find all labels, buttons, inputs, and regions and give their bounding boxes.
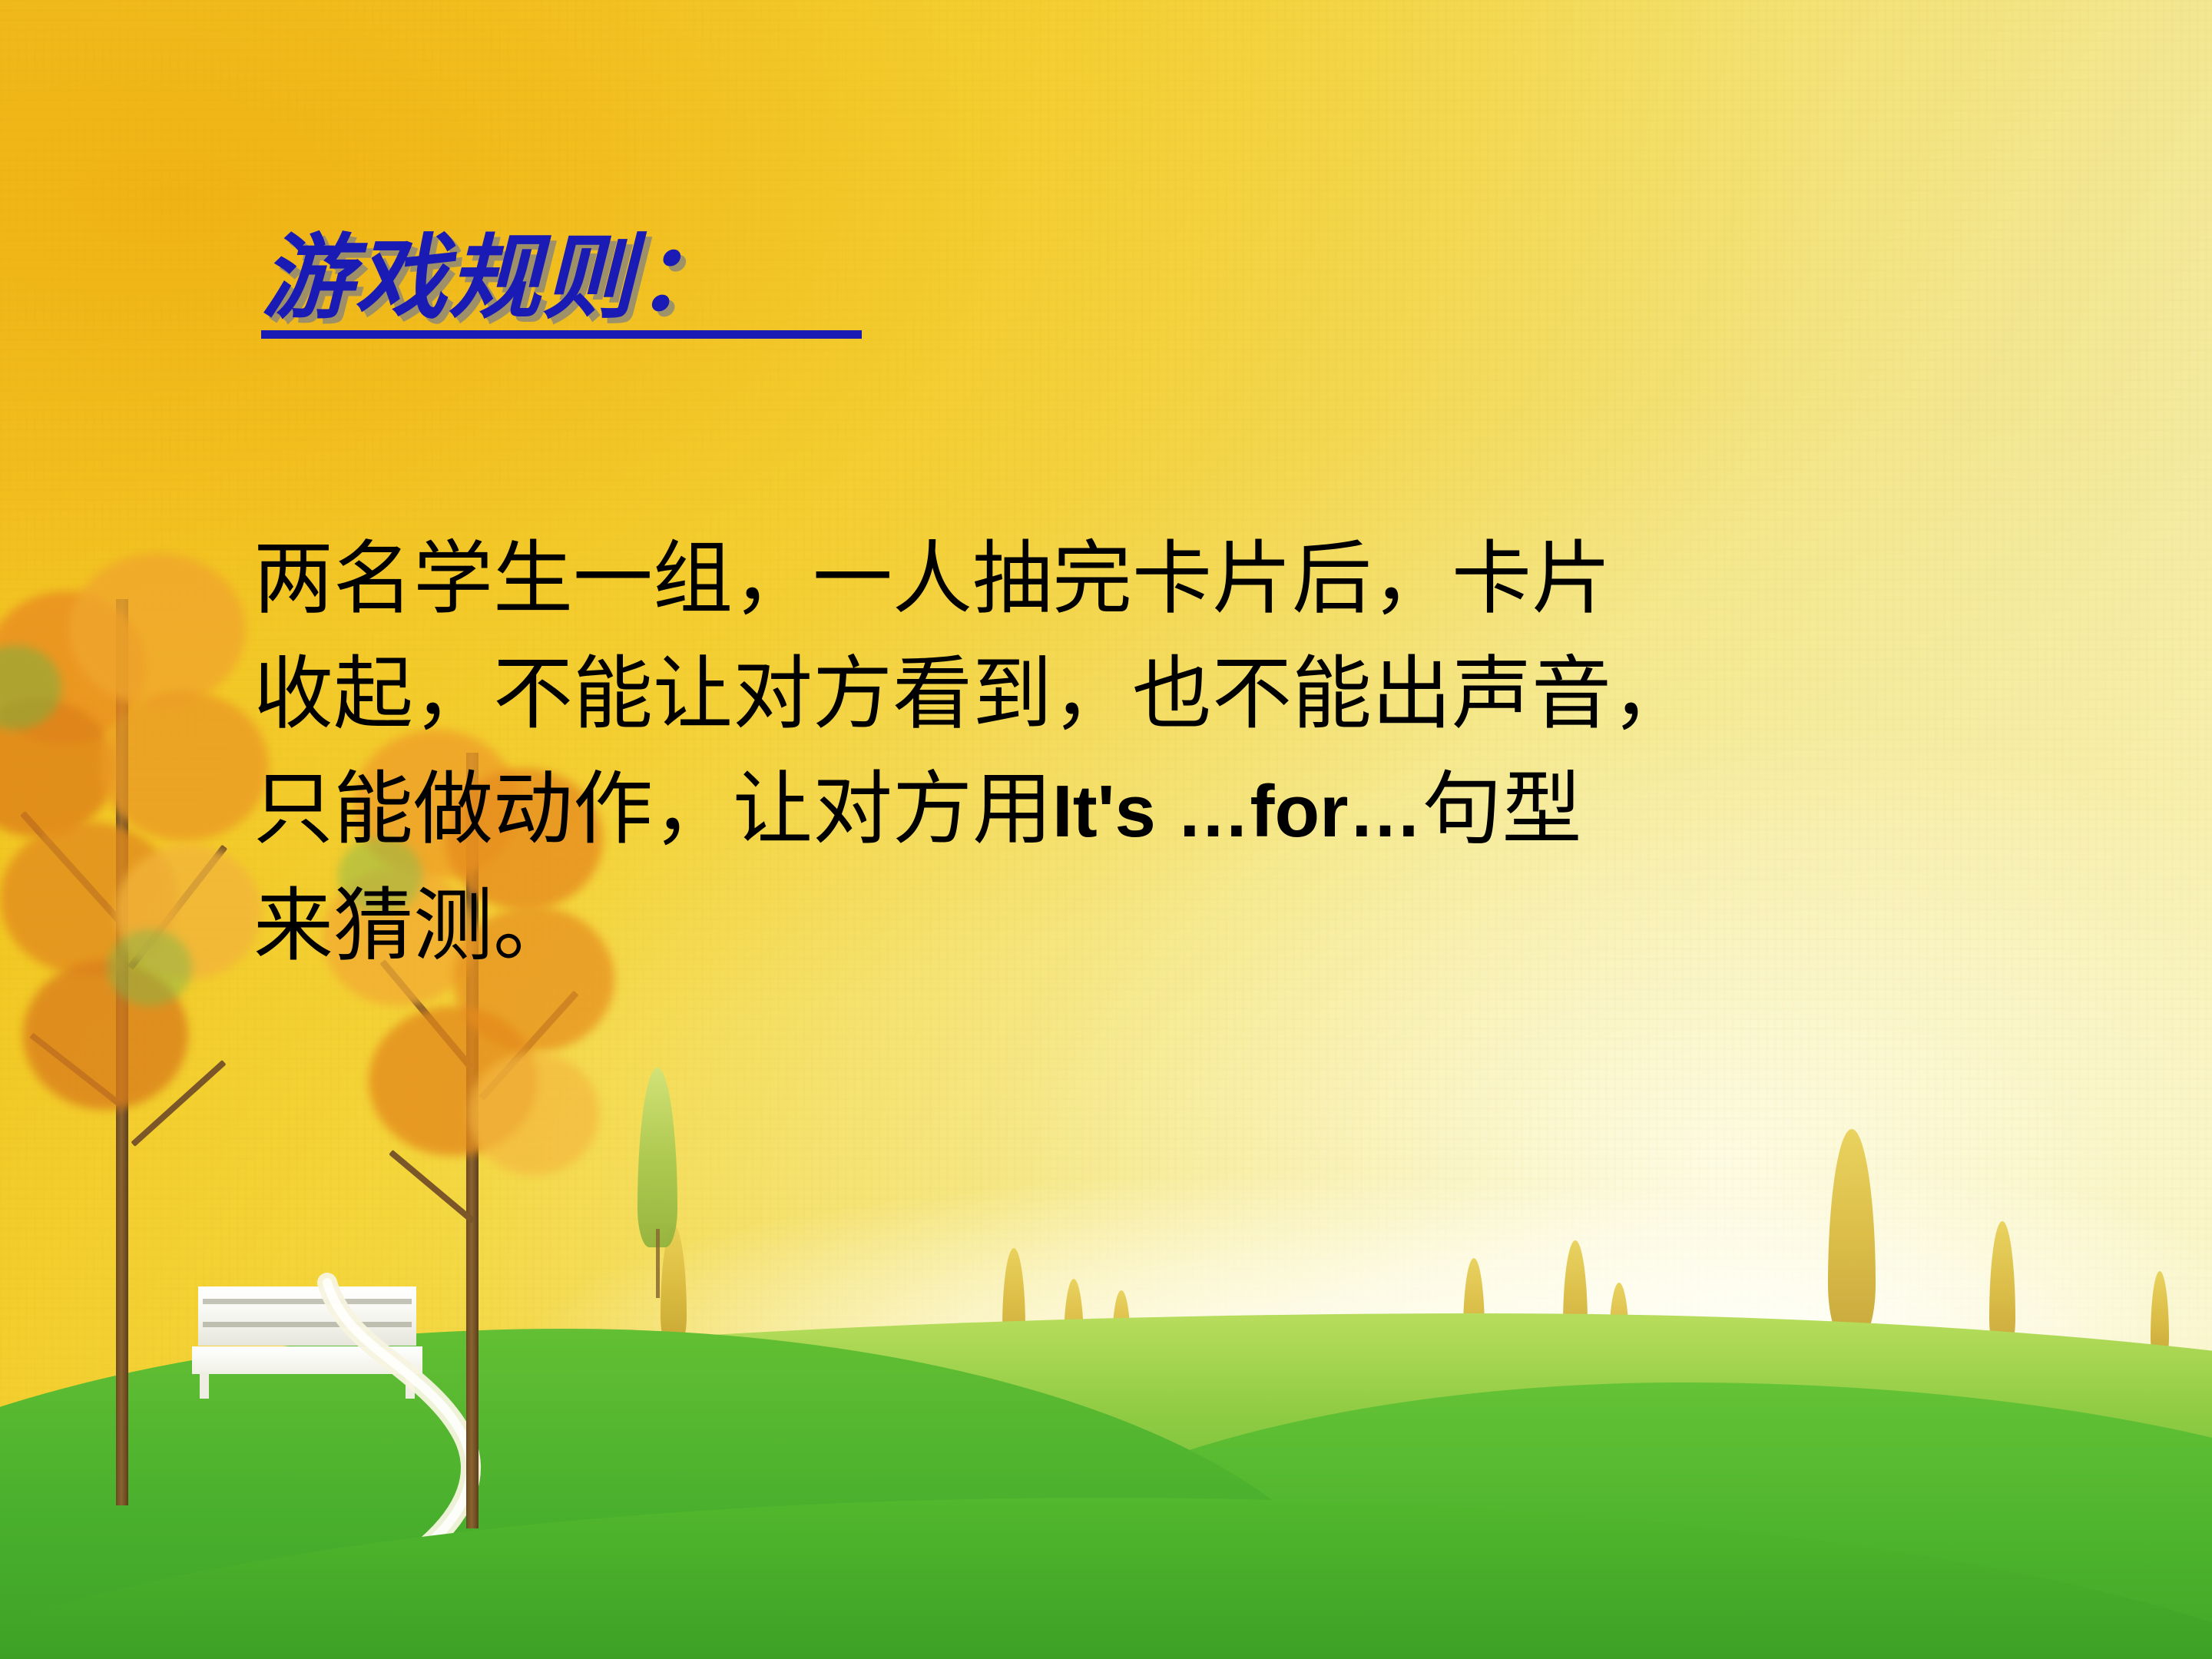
body-line-text: 来猜测。 [253,882,573,971]
body-line: 两名学生一组，一人抽完卡片后，卡片 [253,522,2005,637]
autumn-tree-left [15,599,269,1505]
presentation-slide: 游戏规则： 两名学生一组，一人抽完卡片后，卡片 收起，不能让对方看到，也不能出声… [0,0,2212,1659]
title-underline [261,330,862,339]
landscape-illustration [0,1075,2212,1659]
body-line-text: 两名学生一组，一人抽完卡片后，卡片 [253,535,1611,624]
body-line-text-english: It's …for… [1052,770,1422,853]
body-line: 收起，不能让对方看到，也不能出声音， [253,637,2005,753]
body-line: 只能做动作，让对方用It's …for…句型 [253,753,2005,869]
page-title: 游戏规则： [261,230,862,327]
body-text-block: 两名学生一组，一人抽完卡片后，卡片 收起，不能让对方看到，也不能出声音， 只能做… [253,522,2005,985]
body-line-text: 收起，不能让对方看到，也不能出声音， [253,651,1691,739]
body-line-text-cjk-tail: 句型 [1422,766,1582,854]
conifer-tree [637,1068,677,1298]
body-line: 来猜测。 [253,869,2005,985]
body-line-text-cjk: 只能做动作，让对方用 [253,766,1052,854]
title-block: 游戏规则： [261,230,862,339]
